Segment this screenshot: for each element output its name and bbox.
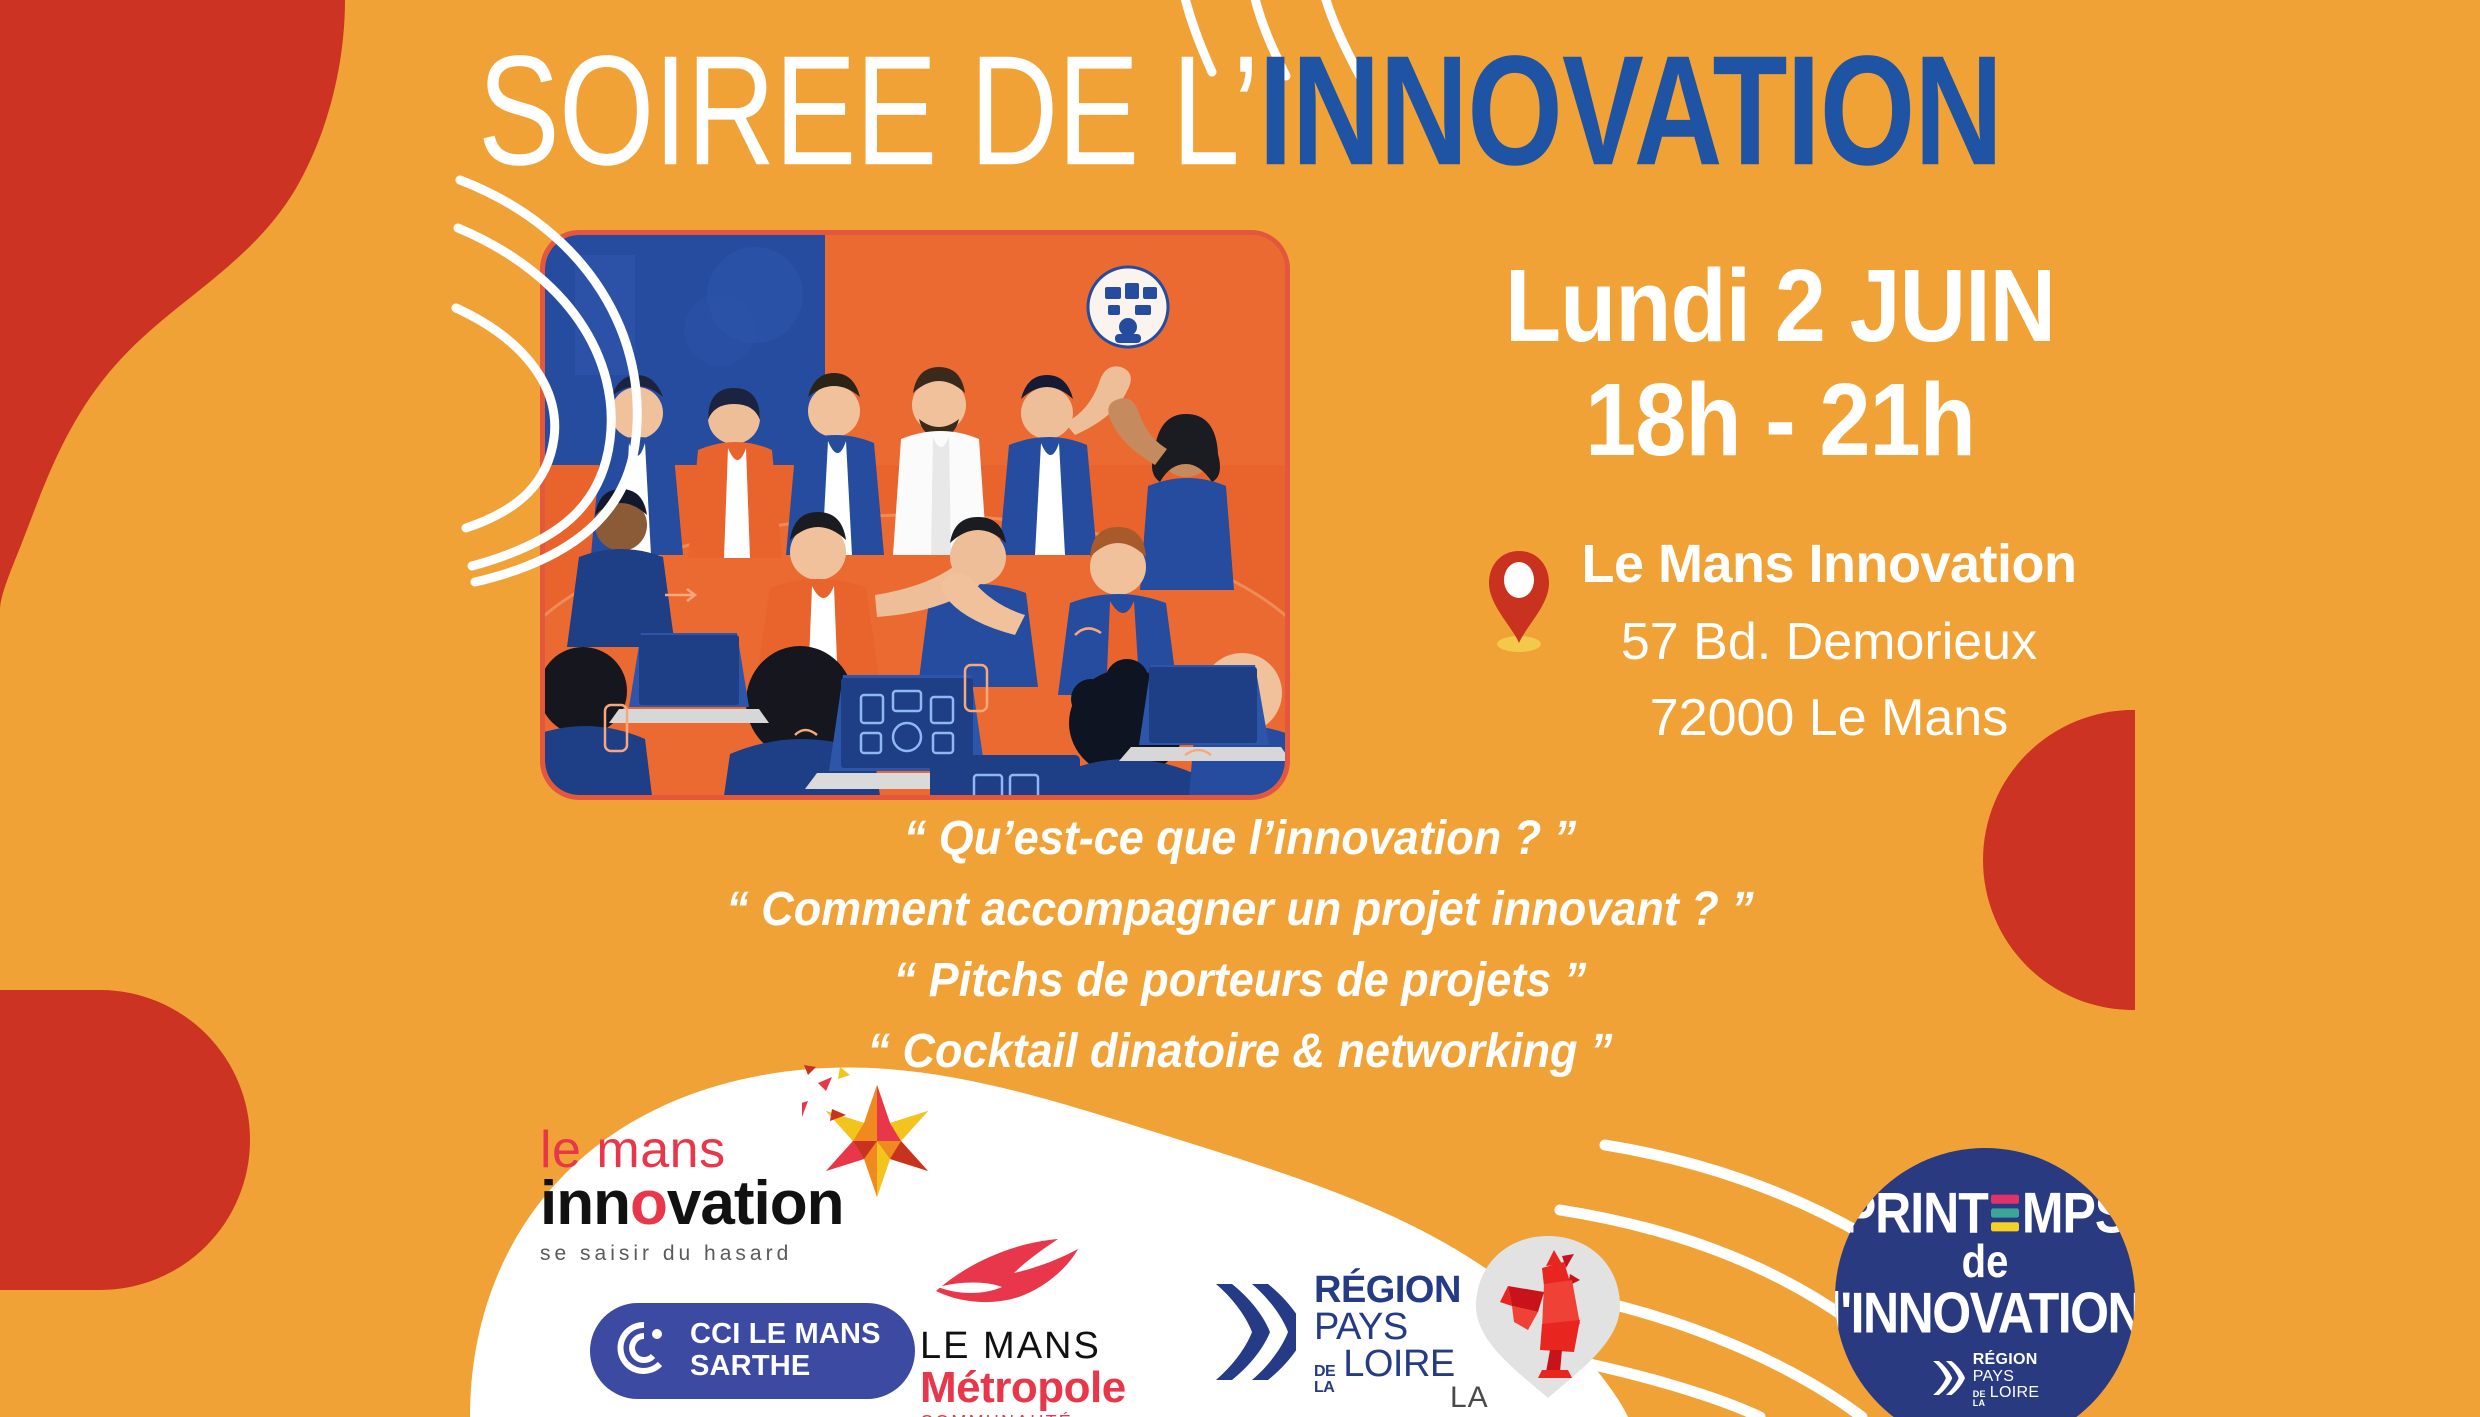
cci-line2: SARTHE (690, 1351, 881, 1383)
e-bar-bottom (1991, 1222, 2019, 1231)
partner-logos: le mans innovation se saisir du hasard C… (520, 1117, 1700, 1417)
venue-city: 72000 Le Mans (1581, 683, 2076, 753)
printemps-innovation-badge: PRINT MPS de l'INNOVATION RÉGION PAYS DE (1835, 1148, 2135, 1417)
title-part-blue: INNOVATION (1259, 24, 2003, 198)
program-item: “ Cocktail dinatoire & networking ” (0, 1026, 2480, 1075)
venue-block: Le Mans Innovation 57 Bd. Demorieux 7200… (1330, 533, 2230, 753)
venue-street: 57 Bd. Demorieux (1581, 607, 2076, 677)
rpl-line2: PAYS (1314, 1309, 1461, 1346)
event-illustration (545, 235, 1285, 795)
map-pin-icon (1483, 547, 1555, 660)
page-title: SOIREE DE L’INNOVATION (0, 30, 2480, 164)
logo-region-pays-de-la-loire: RÉGION PAYS DE LA LOIRE (1210, 1272, 1461, 1396)
lmm-line1: LE MANS (920, 1327, 1135, 1365)
cci-line1: CCI LE MANS (690, 1319, 881, 1351)
lmm-line2: Métropole (920, 1365, 1135, 1411)
badge-region-line1: RÉGION (1973, 1352, 2040, 1369)
badge-region-logo: RÉGION PAYS DE LA LOIRE (1931, 1352, 2040, 1409)
badge-region-text: RÉGION PAYS DE LA LOIRE (1973, 1352, 2040, 1409)
rpl-de-la: DE LA (1314, 1364, 1335, 1396)
badge-mps: MPS (2022, 1184, 2127, 1242)
rpl-line1: RÉGION (1314, 1272, 1461, 1309)
event-time: 18h - 21h (1330, 369, 2230, 472)
lmi-o: o (630, 1169, 667, 1238)
cci-label: CCI LE MANS SARTHE (690, 1319, 881, 1383)
rpl-de: DE (1314, 1364, 1335, 1380)
event-poster: SOIREE DE L’INNOVATION (0, 0, 2480, 1417)
venue-text: Le Mans Innovation 57 Bd. Demorieux 7200… (1581, 533, 2076, 753)
venue-name: Le Mans Innovation (1581, 533, 2076, 597)
cci-circle-icon (616, 1320, 672, 1381)
rpl-loire: LOIRE (1343, 1346, 1455, 1383)
program-item: “ Comment accompagner un projet innovant… (0, 884, 2480, 933)
lmi-vation: vation (667, 1169, 844, 1238)
badge-print: PRINT (1843, 1184, 1988, 1242)
event-date: Lundi 2 JUIN (1330, 255, 2230, 358)
program-list: “ Qu’est-ce que l’innovation ? ” “ Comme… (0, 815, 2480, 1099)
logo-le-mans-metropole: LE MANS Métropole COMMUNAUTÉ URBAINE (920, 1235, 1135, 1417)
logo-cci-le-mans-sarthe: CCI LE MANS SARTHE (590, 1303, 915, 1399)
lmm-line3: COMMUNAUTÉ URBAINE (920, 1413, 1135, 1417)
logo-le-mans-innovation: le mans innovation se saisir du hasard (540, 1127, 900, 1266)
rpl-la: LA (1314, 1380, 1335, 1396)
badge-line1: PRINT MPS (1843, 1184, 2127, 1242)
badge-region-loire: LOIRE (1990, 1385, 2040, 1402)
badge-region-line3: DE LA LOIRE (1973, 1385, 2040, 1408)
e-bar-mid (1991, 1208, 2019, 1217)
badge-region-la: LA (1973, 1399, 1986, 1408)
badge-line2: de (1962, 1239, 2009, 1285)
double-chevron-icon (1931, 1356, 1965, 1405)
ft-line1: LA (1450, 1382, 1675, 1414)
badge-region-de-la: DE LA (1973, 1390, 1986, 1408)
lmi-line2: innovation (540, 1175, 900, 1234)
e-bar-top (1991, 1194, 2019, 1203)
double-chevron-icon (1210, 1278, 1296, 1391)
program-item: “ Qu’est-ce que l’innovation ? ” (0, 813, 2480, 862)
program-item: “ Pitchs de porteurs de projets ” (0, 955, 2480, 1004)
ft-text: LA FRENCH TECH LE MANS (1450, 1382, 1675, 1417)
lmi-inn: inn (540, 1169, 630, 1238)
lmi-tagline: se saisir du hasard (540, 1242, 900, 1266)
tricolor-e-icon (1991, 1194, 2019, 1231)
rooster-pin-icon (1468, 1232, 1628, 1407)
event-info-column: Lundi 2 JUIN 18h - 21h Le Mans Innovatio… (1330, 255, 2230, 753)
title-part-white: SOIREE DE L’ (478, 24, 1259, 198)
rpl-text: RÉGION PAYS DE LA LOIRE (1314, 1272, 1461, 1396)
badge-line3: l'INNOVATION (1835, 1284, 2135, 1342)
badge-region-line2: PAYS (1973, 1369, 2040, 1386)
rpl-line3: DE LA LOIRE (1314, 1346, 1461, 1396)
